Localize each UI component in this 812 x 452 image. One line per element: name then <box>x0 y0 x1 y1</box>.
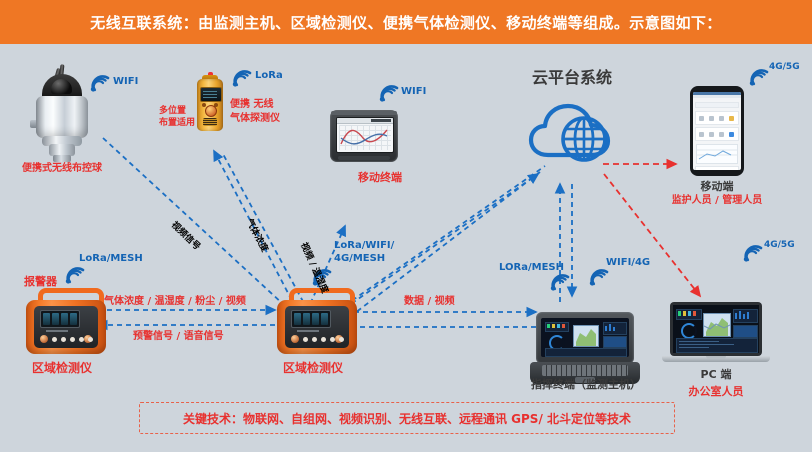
screenshot-root: 无线互联系统：由监测主机、区域检测仪、便携气体检测仪、移动终端等组成。示意图如下… <box>0 0 812 452</box>
wifi-label-mobile-terminal: WIFI <box>401 86 426 99</box>
tablet-handle <box>331 111 397 115</box>
wifi-label-ball-camera: WIFI <box>113 76 138 89</box>
ball-camera-label: 便携式无线布控球 <box>22 163 102 176</box>
key-technology-box: 关键技术：物联网、自组网、视频识别、无线互联、远程通讯 GPS/ 北斗定位等技术 <box>139 402 675 434</box>
area-detector-center-label: 区域检测仪 <box>283 361 343 376</box>
lora-label-gas-detector: LoRa <box>255 70 283 83</box>
laptop-screen <box>541 318 629 357</box>
tablet-foot <box>338 156 390 160</box>
detector-grill <box>203 118 217 126</box>
laptop-keyboard <box>542 365 628 376</box>
alarm-label: 报警器 <box>24 275 57 289</box>
command-terminal-label: 指挥终端（监测主机） <box>531 378 641 392</box>
wifi-4g-label-command: WIFI/4G <box>606 257 650 270</box>
pc-screen <box>673 305 759 353</box>
pc-notch <box>706 356 726 359</box>
diagram-canvas: WIFI 便携式无线布控球 <box>0 44 812 452</box>
mobile-terminal-label: 移动终端 <box>358 171 402 185</box>
wifi-icon <box>89 74 111 92</box>
detector-knob <box>291 335 299 343</box>
mobile-phone-device <box>690 86 744 176</box>
network-label-pc: 4G/5G <box>764 240 795 251</box>
wifi-icon <box>64 266 86 284</box>
wifi-icon <box>588 268 610 286</box>
pc-sublabel: 办公室人员 <box>689 385 744 399</box>
camera-base <box>53 155 71 162</box>
link-label-data-video: 数据 / 视频 <box>404 296 455 309</box>
area-detector-left-label: 区域检测仪 <box>32 361 92 376</box>
pc-device <box>662 302 770 372</box>
wifi-icon <box>742 244 764 262</box>
detector-screen <box>291 310 331 328</box>
detector-knob <box>205 105 217 117</box>
tablet-screen <box>336 117 394 153</box>
command-terminal-device <box>530 312 640 388</box>
lora-mesh-label-alarm: LoRa/MESH <box>79 253 143 266</box>
phone-sublabel: 监护人员 / 管理人员 <box>672 195 763 208</box>
detector-indicator-dots <box>303 337 344 342</box>
page-title: 无线互联系统：由监测主机、区域检测仪、便携气体检测仪、移动终端等组成。示意图如下… <box>90 12 721 33</box>
camera-lens-icon <box>51 79 72 94</box>
detector-screen <box>200 87 222 102</box>
key-technology-text: 关键技术：物联网、自组网、视频识别、无线互联、远程通讯 GPS/ 北斗定位等技术 <box>183 410 631 427</box>
wifi-icon <box>549 273 571 291</box>
network-label-phone: 4G/5G <box>769 62 800 73</box>
link-label-warning-voice: 预警信号 / 语音信号 <box>133 331 224 344</box>
gas-detector-label-line1: 便携 无线 <box>230 99 273 112</box>
portable-gas-detector-device <box>197 75 223 131</box>
wifi-icon <box>231 69 253 87</box>
pc-label: PC 端 <box>701 368 732 382</box>
network-label-center-line2: 4G/MESH <box>334 253 385 266</box>
camera-body <box>36 96 88 138</box>
gas-detector-note-line2: 布置适用 <box>159 118 195 129</box>
area-detector-center-device <box>275 288 359 358</box>
wifi-icon <box>748 68 770 86</box>
mobile-terminal-device <box>330 110 398 162</box>
network-label-center-line1: LoRa/WIFI/ <box>334 240 394 253</box>
detector-indicator-dots <box>52 337 93 342</box>
cloud-globe-icon <box>528 99 624 165</box>
gas-detector-note-line1: 多位置 <box>159 106 186 117</box>
header-banner: 无线互联系统：由监测主机、区域检测仪、便携气体检测仪、移动终端等组成。示意图如下… <box>0 0 812 44</box>
link-label-gas-temp-dust-video: 气体浓度 / 温湿度 / 粉尘 / 视频 <box>104 296 246 309</box>
area-detector-left-device <box>24 288 108 358</box>
detector-knob <box>40 335 48 343</box>
wifi-icon <box>378 84 400 102</box>
cloud-platform-title: 云平台系统 <box>532 68 612 88</box>
gas-detector-label-line2: 气体探测仪 <box>230 113 280 126</box>
phone-screen <box>693 92 741 170</box>
phone-label: 移动端 <box>701 180 734 194</box>
detector-screen <box>40 310 80 328</box>
detector-brand <box>297 330 319 332</box>
detector-brand <box>46 330 68 332</box>
